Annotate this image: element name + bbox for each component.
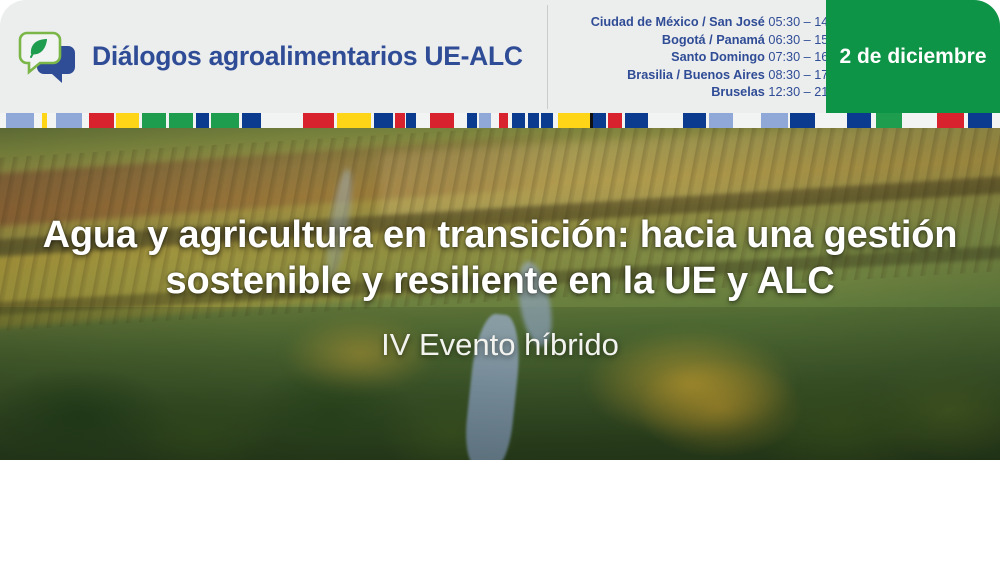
event-date-badge: 2 de diciembre (826, 0, 1000, 113)
schedule-row: Ciudad de México / San José 05:30 – 14:0… (556, 14, 846, 32)
schedule-place: Bogotá / Panamá (662, 33, 765, 47)
brand-title: Diálogos agroalimentarios UE-ALC (92, 41, 523, 72)
schedule-row: Brasilia / Buenos Aires 08:30 – 17:00 (556, 67, 846, 85)
schedule-place: Santo Domingo (671, 50, 765, 64)
timezone-schedule: Ciudad de México / San José 05:30 – 14:0… (556, 14, 846, 102)
flag-stripe-band (0, 113, 1000, 128)
schedule-place: Brasilia / Buenos Aires (627, 68, 765, 82)
event-title: Agua y agricultura en transición: hacia … (40, 212, 960, 304)
brand-lockup: Diálogos agroalimentarios UE-ALC (18, 18, 523, 94)
event-poster: Diálogos agroalimentarios UE-ALC Ciudad … (0, 0, 1000, 562)
schedule-row: Bogotá / Panamá 06:30 – 15:00 (556, 32, 846, 50)
header-divider (547, 5, 548, 109)
schedule-row: Bruselas 12:30 – 21:00 (556, 84, 846, 102)
event-date-label: 2 de diciembre (839, 45, 986, 69)
hero-text-block: Agua y agricultura en transición: hacia … (0, 128, 1000, 460)
poster-header: Diálogos agroalimentarios UE-ALC Ciudad … (0, 0, 1000, 113)
schedule-row: Santo Domingo 07:30 – 16:00 (556, 49, 846, 67)
schedule-place: Ciudad de México / San José (591, 15, 765, 29)
poster-footer: Global Gateway AL-INVEST Verde (0, 460, 1000, 562)
event-subtitle: IV Evento híbrido (381, 326, 619, 364)
hero-photo: Agua y agricultura en transición: hacia … (0, 128, 1000, 460)
speech-bubble-leaf-icon (18, 26, 78, 86)
schedule-place: Bruselas (711, 85, 765, 99)
